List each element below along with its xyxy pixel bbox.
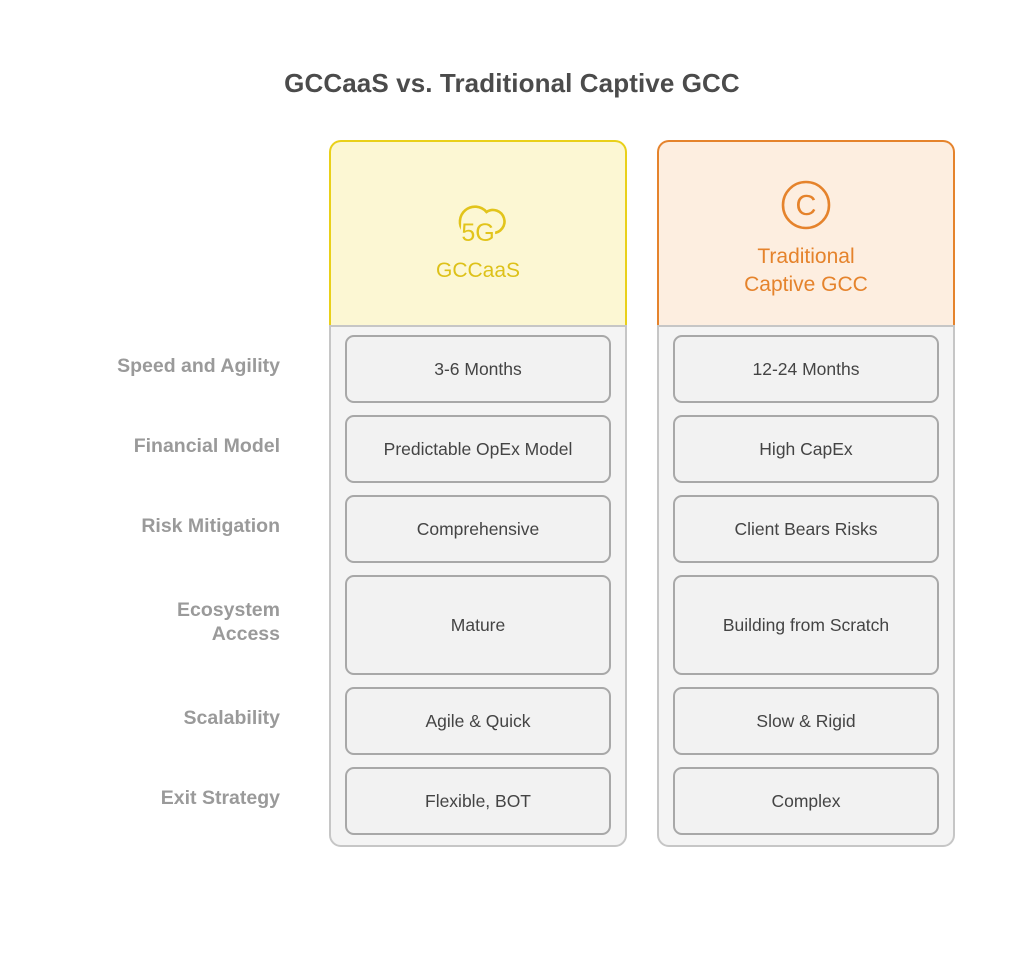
page-title: GCCaaS vs. Traditional Captive GCC (0, 68, 1024, 99)
table-cell-gccaas: Comprehensive (345, 495, 611, 563)
row-label-text: Exit Strategy (161, 787, 280, 811)
table-cell-gccaas: Flexible, BOT (345, 767, 611, 835)
svg-text:5G: 5G (461, 219, 494, 247)
row-label: Scalability (0, 685, 280, 753)
svg-text:C: C (796, 190, 817, 222)
comparison-table-canvas: GCCaaS vs. Traditional Captive GCC Speed… (0, 0, 1024, 957)
row-label: Risk Mitigation (0, 493, 280, 561)
row-label: Speed and Agility (0, 333, 280, 401)
column-title-traditional-line1: Traditional (744, 243, 868, 271)
circled-c-icon: C (776, 175, 836, 237)
table-cell-traditional: Client Bears Risks (673, 495, 939, 563)
row-label-text: Risk Mitigation (141, 515, 280, 539)
column-body-traditional: 12-24 MonthsHigh CapExClient Bears Risks… (657, 325, 955, 847)
row-label-text: Scalability (184, 707, 280, 731)
column-title-traditional-line2: Captive GCC (744, 271, 868, 299)
table-cell-gccaas: 3-6 Months (345, 335, 611, 403)
column-gccaas: 5G GCCaaS 3-6 MonthsPredictable OpEx Mod… (329, 140, 627, 847)
row-label: Exit Strategy (0, 765, 280, 833)
column-body-gccaas: 3-6 MonthsPredictable OpEx ModelComprehe… (329, 325, 627, 847)
table-cell-traditional: Complex (673, 767, 939, 835)
table-cell-gccaas: Mature (345, 575, 611, 675)
table-cell-traditional: 12-24 Months (673, 335, 939, 403)
row-label-text: Speed and Agility (117, 355, 280, 379)
row-label-text: Financial Model (134, 435, 280, 459)
row-label: EcosystemAccess (0, 573, 280, 673)
column-title-traditional: Traditional Captive GCC (744, 243, 868, 298)
table-cell-traditional: High CapEx (673, 415, 939, 483)
table-cell-gccaas: Agile & Quick (345, 687, 611, 755)
column-header-gccaas: 5G GCCaaS (329, 140, 627, 325)
table-cell-traditional: Building from Scratch (673, 575, 939, 675)
row-label-line1: Ecosystem (177, 599, 280, 623)
row-label-column: Speed and AgilityFinancial ModelRisk Mit… (0, 140, 280, 833)
column-traditional: C Traditional Captive GCC 12-24 MonthsHi… (657, 140, 955, 847)
column-title-gccaas: GCCaaS (436, 257, 520, 285)
cloud-5g-icon: 5G (441, 189, 515, 251)
row-label-line2: Access (177, 623, 280, 647)
row-label: Financial Model (0, 413, 280, 481)
column-header-traditional: C Traditional Captive GCC (657, 140, 955, 325)
table-cell-traditional: Slow & Rigid (673, 687, 939, 755)
table-cell-gccaas: Predictable OpEx Model (345, 415, 611, 483)
